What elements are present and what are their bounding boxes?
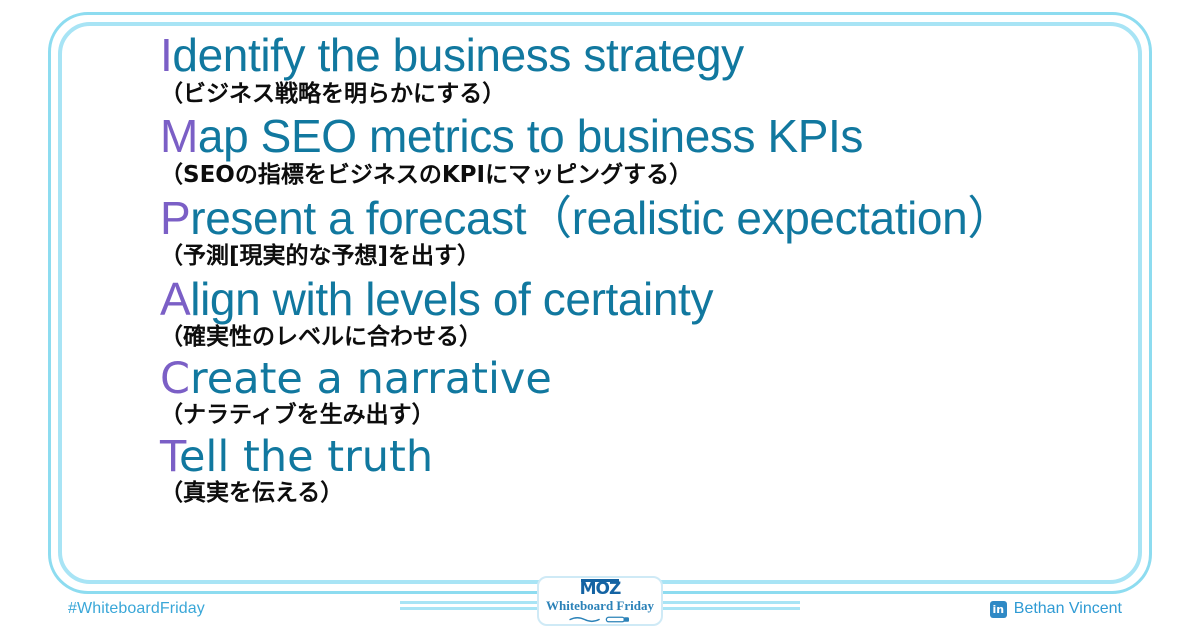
badge-series-title: Whiteboard Friday xyxy=(546,599,654,614)
item-initial-letter: I xyxy=(160,29,172,81)
item-japanese-translation: （ビジネス戦略を明らかにする） xyxy=(160,80,1130,109)
item-english-heading: Present a forecast（realistic expectation… xyxy=(160,193,1130,245)
item-initial-letter: M xyxy=(160,110,198,162)
item-english-heading: Align with levels of certainty xyxy=(160,274,1130,326)
list-item: Identify the business strategy （ビジネス戦略を明… xyxy=(160,30,1130,108)
item-japanese-translation: （ナラティブを生み出す） xyxy=(160,401,1130,430)
moz-whiteboard-friday-badge: MOZ Whiteboard Friday xyxy=(537,576,663,626)
item-japanese-translation: （予測[現実的な予想]を出す） xyxy=(160,242,1130,271)
author-byline: in Bethan Vincent xyxy=(990,600,1122,618)
item-heading-rest: lign with levels of certainty xyxy=(190,273,713,325)
moz-logo-bar xyxy=(581,579,620,582)
item-heading-rest: dentify the business strategy xyxy=(172,29,743,81)
item-heading-rest: reate a narrative xyxy=(190,354,552,404)
moz-logo: MOZ xyxy=(580,581,621,598)
item-english-heading: Identify the business strategy xyxy=(160,30,1130,82)
hashtag-label: #WhiteboardFriday xyxy=(68,600,205,618)
item-english-heading: Map SEO metrics to business KPIs xyxy=(160,111,1130,163)
marker-pen-icon xyxy=(565,615,635,624)
moz-logo-text: MOZ xyxy=(580,579,621,599)
list-item: Create a narrative （ナラティブを生み出す） xyxy=(160,355,1130,430)
item-heading-rest: resent a forecast（realistic expectation） xyxy=(190,192,1013,244)
item-initial-letter: P xyxy=(160,192,190,244)
item-english-heading: Create a narrative xyxy=(160,355,1130,403)
list-item: Map SEO metrics to business KPIs （SEOの指標… xyxy=(160,111,1130,189)
list-item: Align with levels of certainty （確実性のレベルに… xyxy=(160,274,1130,352)
item-japanese-translation: （確実性のレベルに合わせる） xyxy=(160,323,1130,352)
item-heading-rest: ap SEO metrics to business KPIs xyxy=(198,110,863,162)
author-name: Bethan Vincent xyxy=(1014,600,1122,618)
linkedin-icon: in xyxy=(990,601,1007,618)
item-english-heading: Tell the truth xyxy=(160,433,1130,481)
item-initial-letter: A xyxy=(160,273,190,325)
badge-wing-left xyxy=(400,601,540,608)
list-item: Tell the truth （真実を伝える） xyxy=(160,433,1130,508)
item-heading-rest: ell the truth xyxy=(179,432,433,482)
item-japanese-translation: （SEOの指標をビジネスのKPIにマッピングする） xyxy=(160,161,1130,190)
impact-list: Identify the business strategy （ビジネス戦略を明… xyxy=(0,0,1200,594)
item-initial-letter: T xyxy=(160,432,179,482)
item-japanese-translation: （真実を伝える） xyxy=(160,479,1130,508)
list-item: Present a forecast（realistic expectation… xyxy=(160,193,1130,271)
badge-wing-right xyxy=(660,601,800,608)
item-initial-letter: C xyxy=(160,354,190,404)
